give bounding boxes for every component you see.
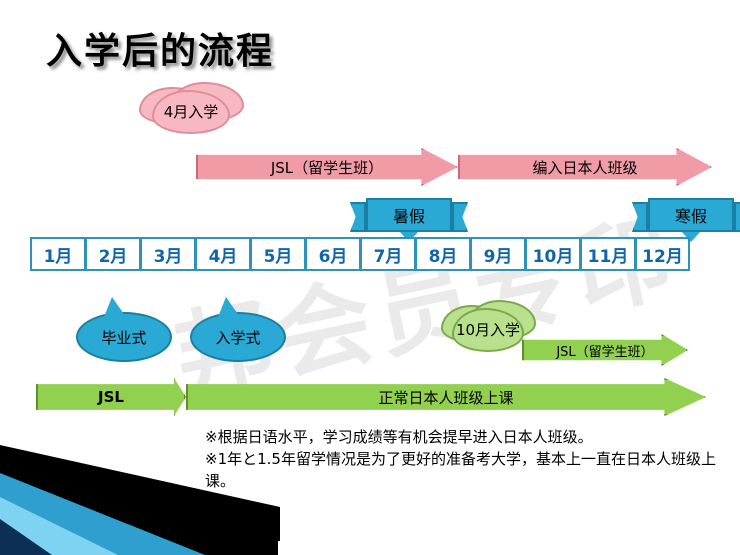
arrow-jsl-label-text: JSL [98,388,124,406]
month-cell-3: 3月 [140,237,195,271]
banner-winter-vacation: 寒假 [648,198,734,232]
cloud-april-entry-label: 4月入学 [164,104,219,121]
arrow-join-japanese-class: 编入日本人班级 [458,148,712,186]
oval-entrance-tail [218,297,240,317]
oval-graduation-ceremony: 毕业式 [76,312,172,362]
month-cell-12: 12月 [635,237,690,271]
arrow-jsl-label: JSL [36,378,186,416]
cloud-october-entry-label: 10月入学 [456,322,520,339]
arrow-jsl-class-top: JSL（留学生班） [196,148,458,186]
arrow-jsl-class-small-label: JSL（留学生班） [556,341,653,360]
month-bar: 1月 2月 3月 4月 5月 6月 7月 8月 9月 10月 11月 12月 [30,237,690,271]
month-cell-4: 4月 [195,237,250,271]
banner-summer-vacation-label: 暑假 [393,203,425,227]
month-cell-8: 8月 [415,237,470,271]
month-cell-5: 5月 [250,237,305,271]
slide-canvas: 入学后的流程 邦会员专印 4月入学 JSL（留学生班） 编入日本人班级 暑假 寒… [0,0,740,555]
oval-graduation-tail [104,297,126,317]
arrow-jsl-class-small: JSL（留学生班） [522,334,688,366]
banner-winter-vacation-label: 寒假 [675,203,707,227]
arrow-jsl-class-top-label: JSL（留学生班） [271,157,383,178]
oval-entrance-ceremony: 入学式 [190,312,286,362]
month-cell-6: 6月 [305,237,360,271]
oval-entrance-label: 入学式 [215,327,260,348]
month-cell-11: 11月 [580,237,635,271]
month-cell-2: 2月 [85,237,140,271]
decoration-shapes [0,445,740,555]
oval-graduation-label: 毕业式 [101,327,146,348]
banner-summer-vacation: 暑假 [366,198,452,232]
arrow-normal-japanese-class: 正常日本人班级上课 [186,378,706,416]
month-cell-1: 1月 [30,237,85,271]
bottom-decoration [0,445,740,555]
arrow-join-japanese-class-label: 编入日本人班级 [532,157,637,178]
month-cell-7: 7月 [360,237,415,271]
month-cell-10: 10月 [525,237,580,271]
cloud-october-entry: 10月入学 [452,308,524,352]
page-title: 入学后的流程 [46,22,274,74]
arrow-normal-japanese-class-label: 正常日本人班级上课 [378,387,513,408]
cloud-april-entry: 4月入学 [152,90,230,134]
month-cell-9: 9月 [470,237,525,271]
